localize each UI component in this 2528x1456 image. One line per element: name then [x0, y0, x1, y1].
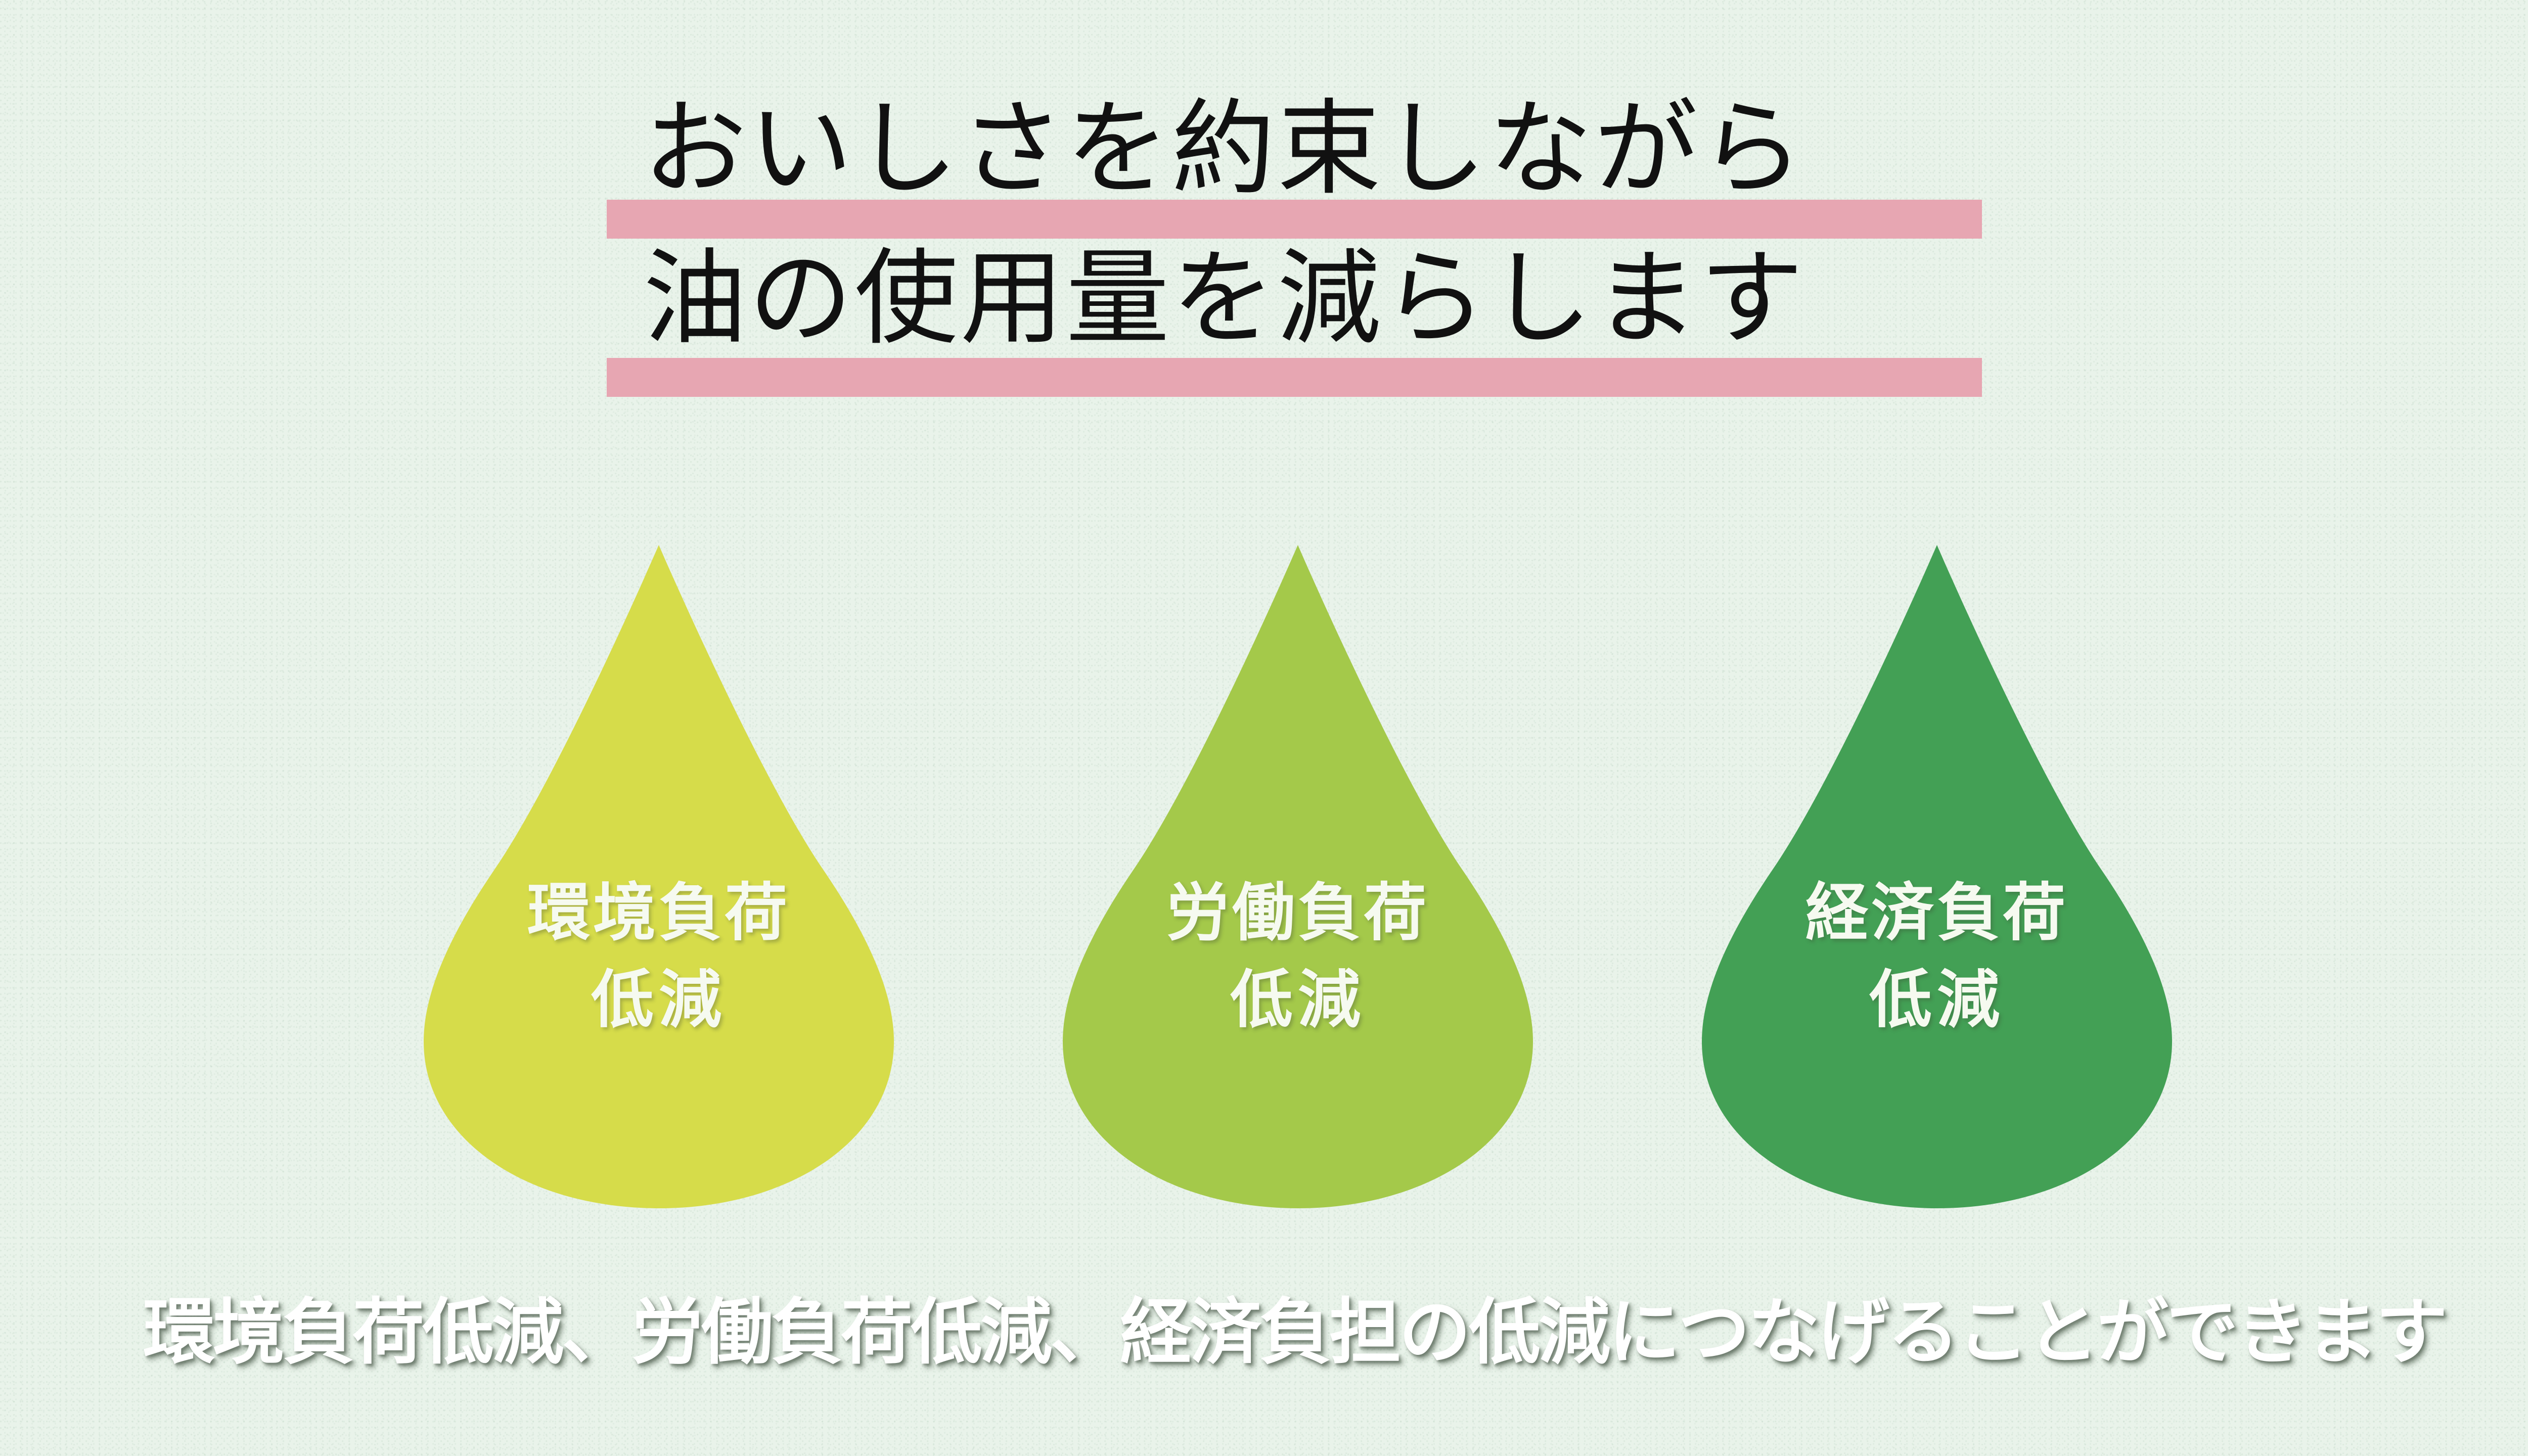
- droplet-label-line-2: 低減: [1702, 957, 2172, 1043]
- title-line-2-text: 油の使用量を減らします: [643, 225, 1805, 372]
- title-line-2-row: 油の使用量を減らします: [607, 225, 2002, 372]
- slide-root: おいしさを約束しながら 油の使用量を減らします 環境負荷 低減 労働負荷: [0, 0, 2528, 1456]
- droplet-label-line-2: 低減: [424, 957, 894, 1043]
- droplet-label-line-1: 環境負荷: [527, 878, 790, 948]
- droplet-label-line-2: 低減: [1063, 957, 1533, 1043]
- slide-caption: 環境負荷低減、労働負荷低減、経済負担の低減につなげることができます: [0, 1288, 2528, 1377]
- droplet-label-economic-load: 経済負荷 低減: [1702, 870, 2172, 1043]
- droplet-label-line-1: 労働負荷: [1166, 878, 1429, 948]
- droplet-label-environmental-load: 環境負荷 低減: [424, 870, 894, 1043]
- title-line-1-text: おいしさを約束しながら: [643, 76, 1805, 222]
- title-line-1-row: おいしさを約束しながら: [607, 76, 2002, 222]
- droplet-label-labor-load: 労働負荷 低減: [1063, 870, 1533, 1043]
- droplet-economic-load: 経済負荷 低減: [1702, 536, 2172, 1213]
- droplet-label-line-1: 経済負荷: [1805, 878, 2068, 948]
- droplet-group: 環境負荷 低減 労働負荷 低減 経済負荷 低減: [0, 536, 2528, 1223]
- droplet-labor-load: 労働負荷 低減: [1063, 536, 1533, 1213]
- slide-title: おいしさを約束しながら 油の使用量を減らします: [607, 76, 2002, 399]
- droplet-environmental-load: 環境負荷 低減: [424, 536, 894, 1213]
